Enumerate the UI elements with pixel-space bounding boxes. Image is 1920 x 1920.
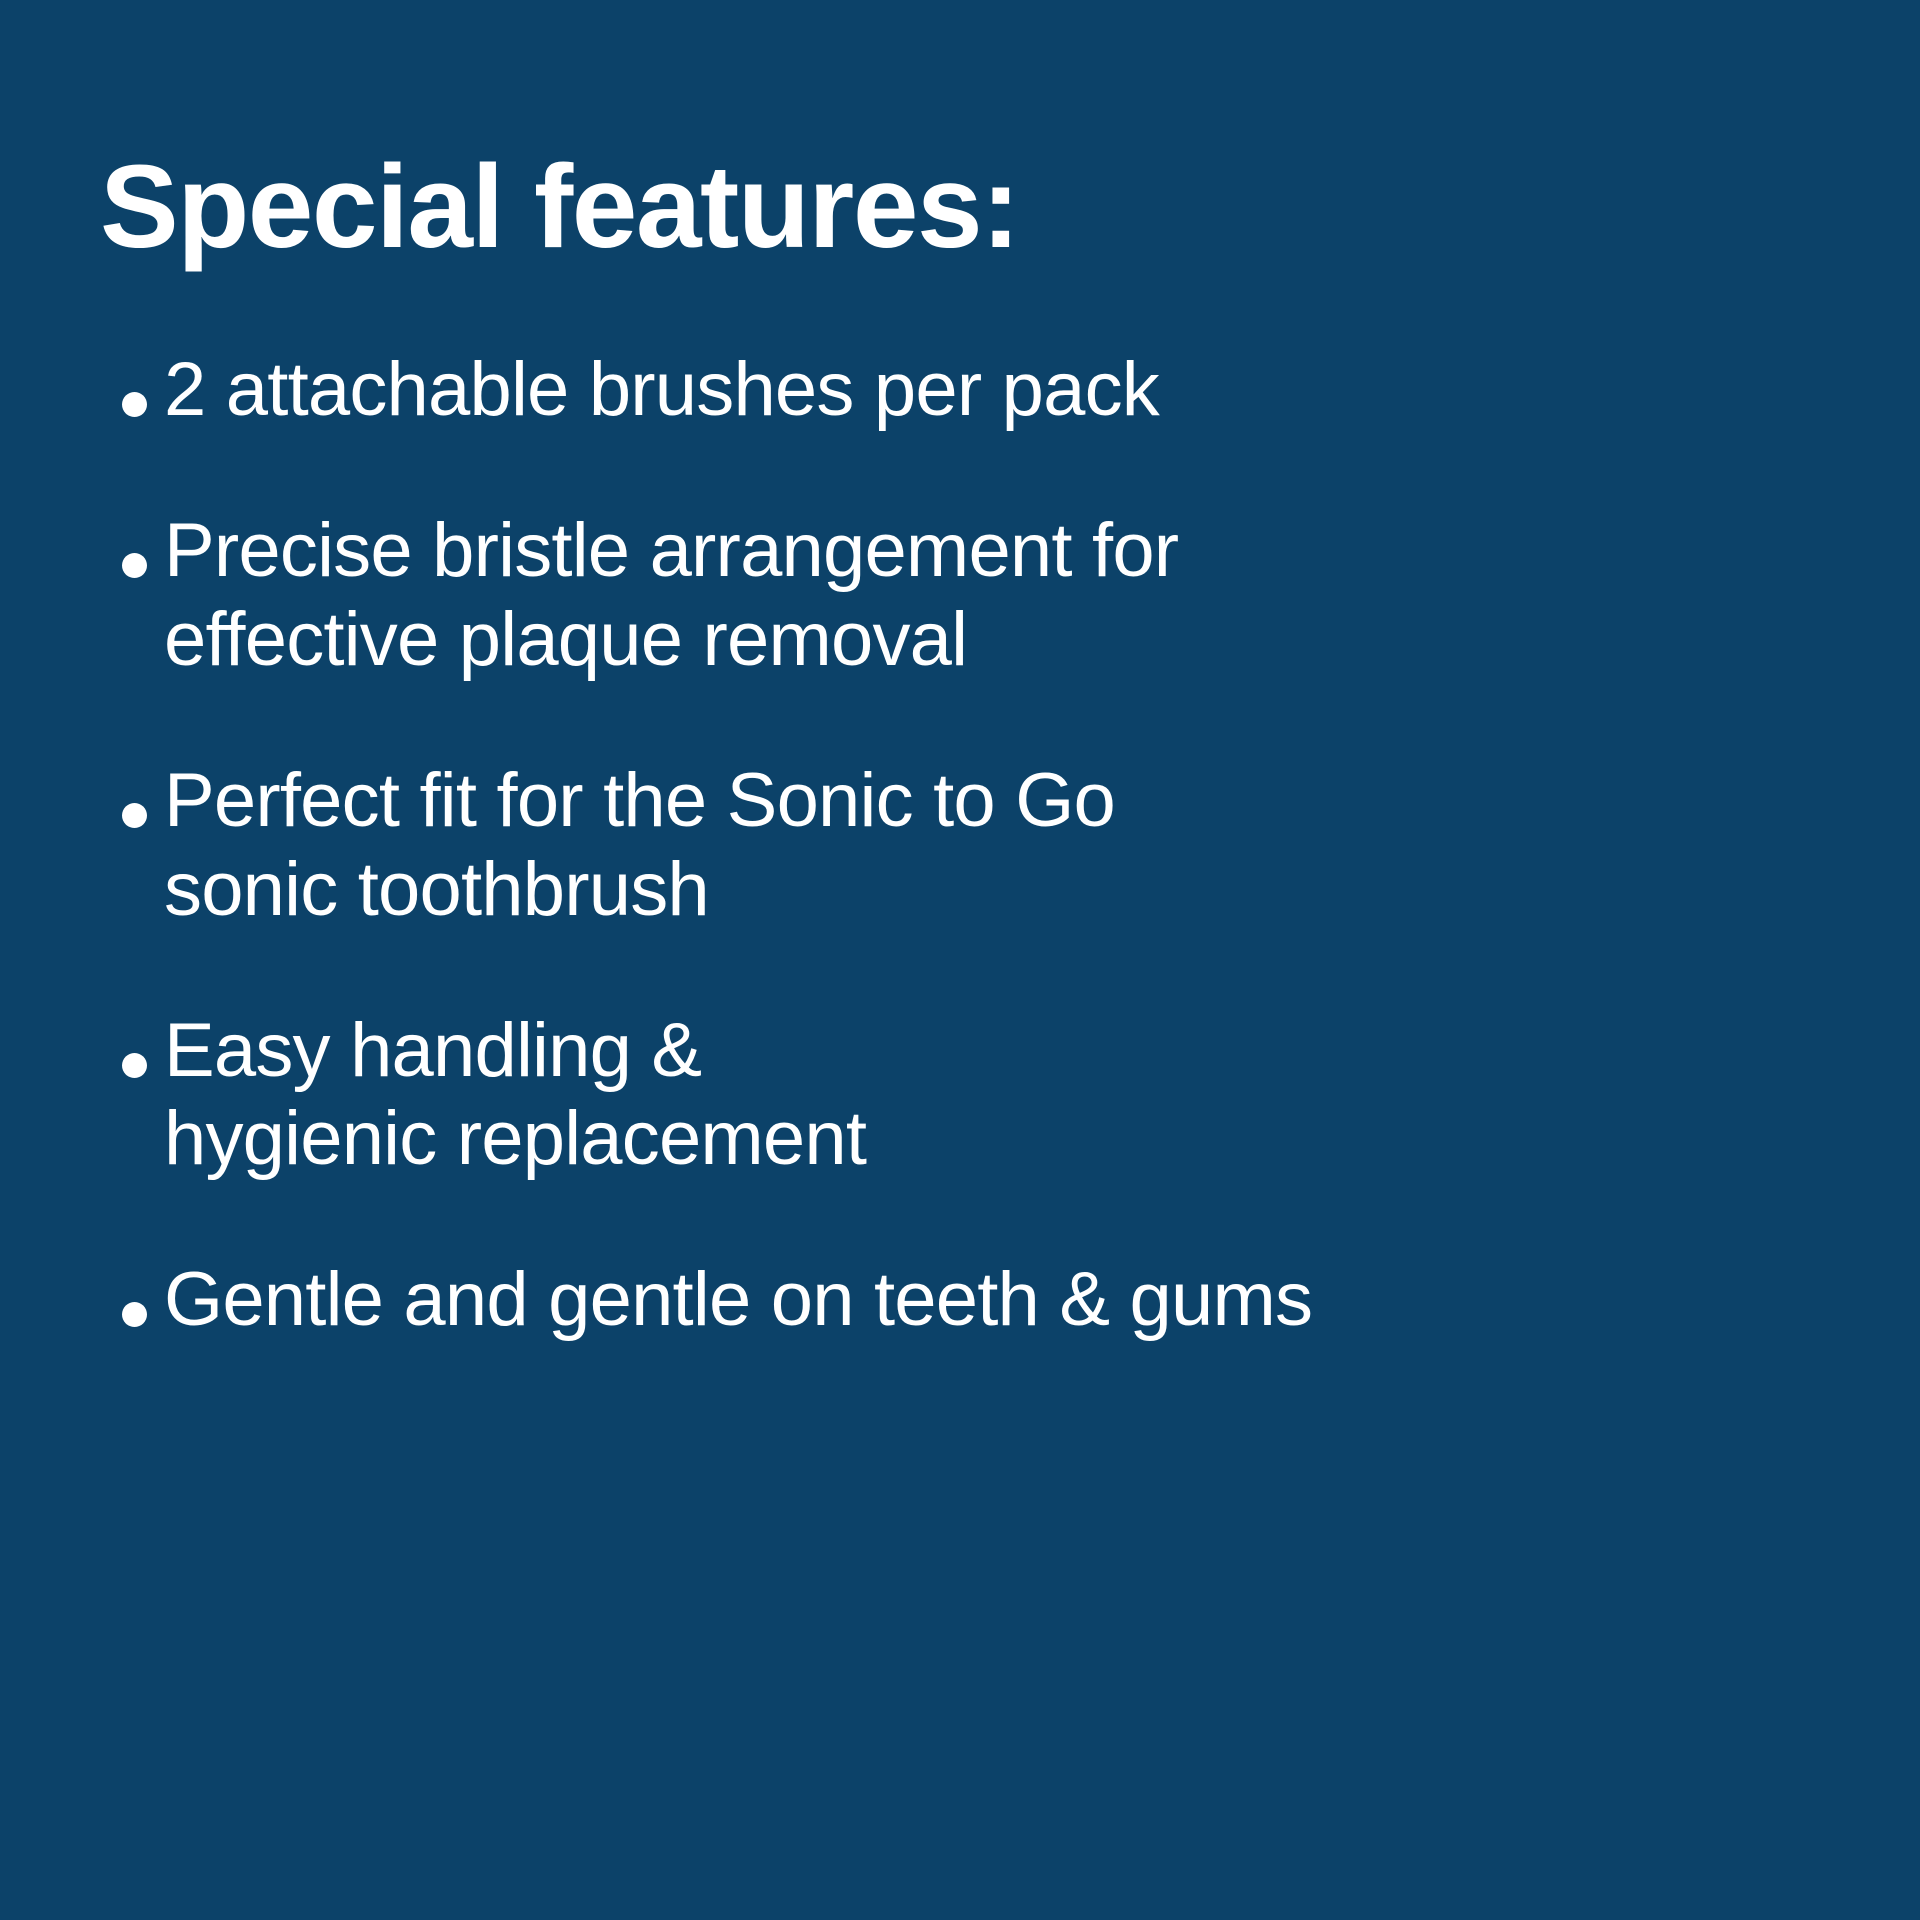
feature-line: Perfect fit for the Sonic to Go bbox=[164, 757, 1860, 846]
bullet-point-icon bbox=[122, 1053, 147, 1078]
feature-line: Precise bristle arrangement for bbox=[164, 507, 1860, 596]
special-features-slide: Special features: 2 attachable brushes p… bbox=[0, 0, 1920, 1920]
feature-list: 2 attachable brushes per pack Precise br… bbox=[100, 346, 1860, 1345]
feature-line: effective plaque removal bbox=[164, 596, 1860, 685]
feature-line: Easy handling & bbox=[164, 1007, 1860, 1096]
bullet-point-icon bbox=[122, 803, 147, 828]
feature-line: hygienic replacement bbox=[164, 1095, 1860, 1184]
list-item: 2 attachable brushes per pack bbox=[100, 346, 1860, 435]
feature-line: sonic toothbrush bbox=[164, 846, 1860, 935]
list-item: Easy handling & hygienic replacement bbox=[100, 1007, 1860, 1185]
feature-line: 2 attachable brushes per pack bbox=[164, 346, 1860, 435]
feature-line: Gentle and gentle on teeth & gums bbox=[164, 1256, 1860, 1345]
list-item: Perfect fit for the Sonic to Go sonic to… bbox=[100, 757, 1860, 935]
bullet-point-icon bbox=[122, 392, 147, 417]
page-title: Special features: bbox=[100, 137, 1019, 279]
bullet-point-icon bbox=[122, 1302, 147, 1327]
list-item: Gentle and gentle on teeth & gums bbox=[100, 1256, 1860, 1345]
list-item: Precise bristle arrangement for effectiv… bbox=[100, 507, 1860, 685]
bullet-point-icon bbox=[122, 553, 147, 578]
